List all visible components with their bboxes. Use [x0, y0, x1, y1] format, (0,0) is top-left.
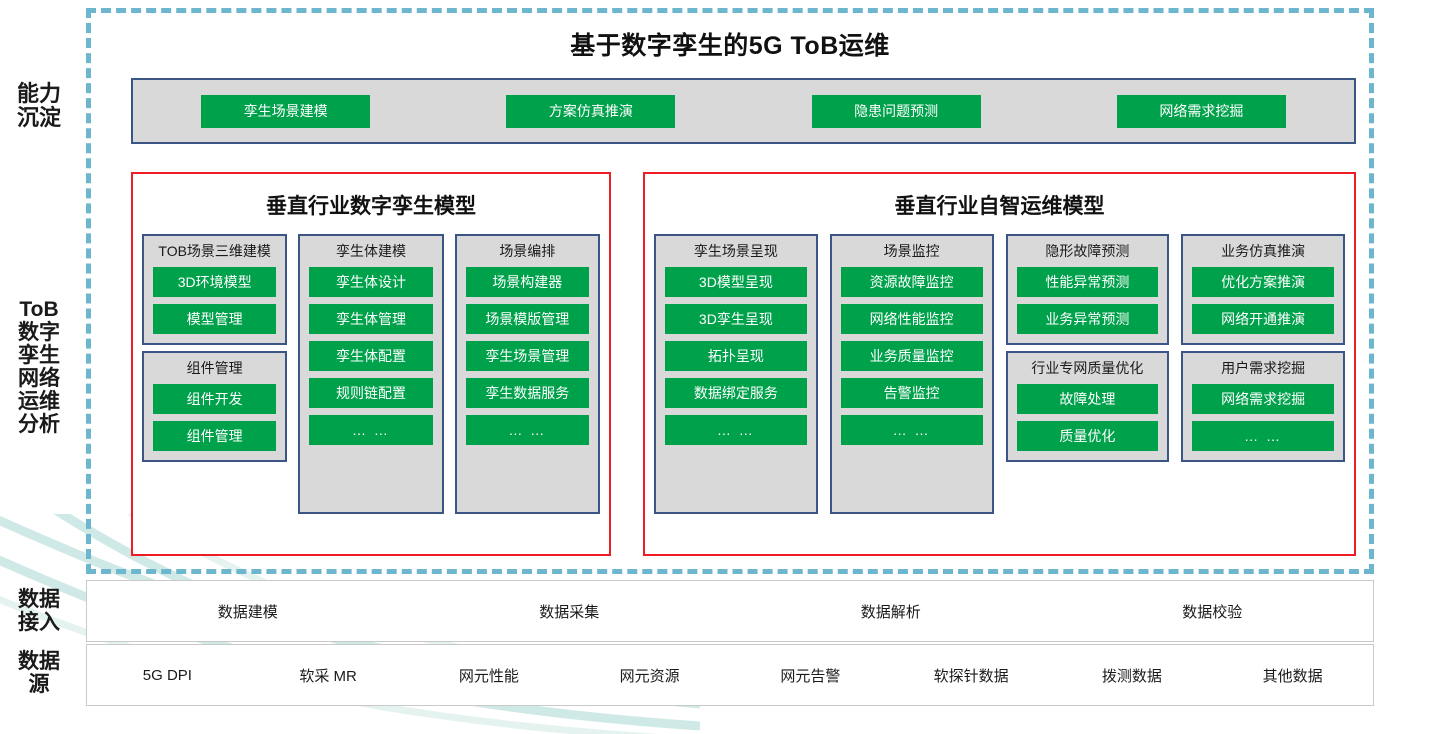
- panel-title: 隐形故障预测: [1017, 243, 1159, 259]
- capability-chip[interactable]: 隐患问题预测: [812, 95, 981, 128]
- model-column: 业务仿真推演优化方案推演网络开通推演用户需求挖掘网络需求挖掘… …: [1181, 234, 1345, 462]
- side-label-data-access-line-1: 数据: [0, 588, 78, 611]
- side-label-data-source: 数据 源: [0, 650, 78, 696]
- capability-item-chip[interactable]: 孪生体设计: [309, 267, 432, 297]
- capability-item-chip[interactable]: 规则链配置: [309, 378, 432, 408]
- data-access-item[interactable]: 数据校验: [1052, 601, 1374, 622]
- side-label-tob-line-6: 分析: [0, 413, 78, 436]
- side-label-ability: 能力 沉淀: [0, 82, 78, 130]
- capability-item-chip[interactable]: 业务质量监控: [841, 341, 983, 371]
- capability-cell: 方案仿真推演: [438, 95, 743, 128]
- capability-strip: 孪生场景建模方案仿真推演隐患问题预测网络需求挖掘: [131, 78, 1356, 144]
- side-label-data-access: 数据 接入: [0, 588, 78, 634]
- capability-item-chip[interactable]: 场景模版管理: [466, 304, 589, 334]
- capability-item-chip[interactable]: 资源故障监控: [841, 267, 983, 297]
- capability-panel: 用户需求挖掘网络需求挖掘… …: [1181, 351, 1345, 462]
- panel-title: 行业专网质量优化: [1017, 360, 1159, 376]
- side-label-data-access-line-2: 接入: [0, 611, 78, 634]
- data-access-strip: 数据建模数据采集数据解析数据校验: [86, 580, 1374, 642]
- data-source-item[interactable]: 软采 MR: [248, 665, 409, 686]
- panel-title: 场景编排: [466, 243, 589, 259]
- page-title: 基于数字孪生的5G ToB运维: [96, 26, 1364, 62]
- capability-chip[interactable]: 方案仿真推演: [506, 95, 675, 128]
- auto-ops-model-box: 垂直行业自智运维模型 孪生场景呈现3D模型呈现3D孪生呈现拓扑呈现数据绑定服务……: [643, 172, 1356, 556]
- data-source-item[interactable]: 网元性能: [409, 665, 570, 686]
- data-access-item[interactable]: 数据建模: [87, 601, 409, 622]
- model-column: 孪生体建模孪生体设计孪生体管理孪生体配置规则链配置… …: [298, 234, 443, 514]
- capability-item-chip[interactable]: 孪生数据服务: [466, 378, 589, 408]
- side-label-tob-line-4: 网络: [0, 367, 78, 390]
- capability-panel: 隐形故障预测性能异常预测业务异常预测: [1006, 234, 1170, 345]
- capability-cell: 网络需求挖掘: [1049, 95, 1354, 128]
- side-label-tob-line-3: 孪生: [0, 344, 78, 367]
- capability-item-chip[interactable]: 3D环境模型: [153, 267, 276, 297]
- capability-item-chip[interactable]: … …: [466, 415, 589, 445]
- side-label-data-source-line-2: 源: [0, 673, 78, 696]
- data-access-item[interactable]: 数据解析: [730, 601, 1052, 622]
- capability-item-chip[interactable]: 孪生体配置: [309, 341, 432, 371]
- side-label-tob: ToB 数字 孪生 网络 运维 分析: [0, 298, 78, 437]
- data-access-item[interactable]: 数据采集: [409, 601, 731, 622]
- side-label-data-source-line-1: 数据: [0, 650, 78, 673]
- capability-item-chip[interactable]: 故障处理: [1017, 384, 1159, 414]
- slide-canvas: 能力 沉淀 ToB 数字 孪生 网络 运维 分析 数据 接入 数据 源 基于数字…: [0, 0, 1438, 734]
- twin-model-columns: TOB场景三维建模3D环境模型模型管理组件管理组件开发组件管理孪生体建模孪生体设…: [133, 234, 609, 514]
- panel-title: 孪生场景呈现: [665, 243, 807, 259]
- twin-model-box: 垂直行业数字孪生模型 TOB场景三维建模3D环境模型模型管理组件管理组件开发组件…: [131, 172, 611, 556]
- capability-chip[interactable]: 孪生场景建模: [201, 95, 370, 128]
- data-source-item[interactable]: 网元告警: [730, 665, 891, 686]
- capability-item-chip[interactable]: 质量优化: [1017, 421, 1159, 451]
- capability-item-chip[interactable]: … …: [1192, 421, 1334, 451]
- panel-title: 用户需求挖掘: [1192, 360, 1334, 376]
- capability-item-chip[interactable]: 拓扑呈现: [665, 341, 807, 371]
- side-label-tob-line-5: 运维: [0, 390, 78, 413]
- capability-panel: 场景编排场景构建器场景模版管理孪生场景管理孪生数据服务… …: [455, 234, 600, 514]
- twin-model-title: 垂直行业数字孪生模型: [133, 190, 609, 220]
- model-column: 隐形故障预测性能异常预测业务异常预测行业专网质量优化故障处理质量优化: [1006, 234, 1170, 462]
- capability-cell: 孪生场景建模: [133, 95, 438, 128]
- capability-panel: 组件管理组件开发组件管理: [142, 351, 287, 462]
- capability-item-chip[interactable]: 组件管理: [153, 421, 276, 451]
- capability-item-chip[interactable]: 数据绑定服务: [665, 378, 807, 408]
- capability-item-chip[interactable]: 性能异常预测: [1017, 267, 1159, 297]
- capability-item-chip[interactable]: 告警监控: [841, 378, 983, 408]
- capability-item-chip[interactable]: 3D模型呈现: [665, 267, 807, 297]
- side-label-ability-line-2: 沉淀: [0, 106, 78, 130]
- data-source-item[interactable]: 拨测数据: [1052, 665, 1213, 686]
- capability-item-chip[interactable]: … …: [665, 415, 807, 445]
- capability-item-chip[interactable]: 孪生体管理: [309, 304, 432, 334]
- data-source-item[interactable]: 软探针数据: [891, 665, 1052, 686]
- capability-panel: 孪生场景呈现3D模型呈现3D孪生呈现拓扑呈现数据绑定服务… …: [654, 234, 818, 514]
- capability-panel: 孪生体建模孪生体设计孪生体管理孪生体配置规则链配置… …: [298, 234, 443, 514]
- panel-title: 业务仿真推演: [1192, 243, 1334, 259]
- capability-item-chip[interactable]: 网络需求挖掘: [1192, 384, 1334, 414]
- panel-title: TOB场景三维建模: [153, 243, 276, 259]
- capability-chip[interactable]: 网络需求挖掘: [1117, 95, 1286, 128]
- side-label-tob-line-1: ToB: [0, 298, 78, 321]
- model-column: 场景监控资源故障监控网络性能监控业务质量监控告警监控… …: [830, 234, 994, 514]
- capability-cell: 隐患问题预测: [744, 95, 1049, 128]
- panel-title: 组件管理: [153, 360, 276, 376]
- model-column: 场景编排场景构建器场景模版管理孪生场景管理孪生数据服务… …: [455, 234, 600, 514]
- capability-item-chip[interactable]: 业务异常预测: [1017, 304, 1159, 334]
- capability-panel: 业务仿真推演优化方案推演网络开通推演: [1181, 234, 1345, 345]
- panel-title: 场景监控: [841, 243, 983, 259]
- side-label-ability-line-1: 能力: [0, 82, 78, 106]
- data-source-item[interactable]: 网元资源: [569, 665, 730, 686]
- capability-item-chip[interactable]: 网络开通推演: [1192, 304, 1334, 334]
- model-column: TOB场景三维建模3D环境模型模型管理组件管理组件开发组件管理: [142, 234, 287, 462]
- capability-panel: 场景监控资源故障监控网络性能监控业务质量监控告警监控… …: [830, 234, 994, 514]
- side-label-tob-line-2: 数字: [0, 321, 78, 344]
- capability-item-chip[interactable]: 3D孪生呈现: [665, 304, 807, 334]
- capability-item-chip[interactable]: 场景构建器: [466, 267, 589, 297]
- capability-item-chip[interactable]: … …: [309, 415, 432, 445]
- capability-item-chip[interactable]: 孪生场景管理: [466, 341, 589, 371]
- auto-ops-model-columns: 孪生场景呈现3D模型呈现3D孪生呈现拓扑呈现数据绑定服务… …场景监控资源故障监…: [645, 234, 1354, 514]
- data-source-item[interactable]: 其他数据: [1212, 665, 1373, 686]
- capability-item-chip[interactable]: 模型管理: [153, 304, 276, 334]
- auto-ops-model-title: 垂直行业自智运维模型: [645, 190, 1354, 220]
- panel-title: 孪生体建模: [309, 243, 432, 259]
- capability-item-chip[interactable]: 组件开发: [153, 384, 276, 414]
- capability-item-chip[interactable]: 网络性能监控: [841, 304, 983, 334]
- capability-panel: 行业专网质量优化故障处理质量优化: [1006, 351, 1170, 462]
- capability-panel: TOB场景三维建模3D环境模型模型管理: [142, 234, 287, 345]
- capability-item-chip[interactable]: 优化方案推演: [1192, 267, 1334, 297]
- data-source-strip: 5G DPI软采 MR网元性能网元资源网元告警软探针数据拨测数据其他数据: [86, 644, 1374, 706]
- model-column: 孪生场景呈现3D模型呈现3D孪生呈现拓扑呈现数据绑定服务… …: [654, 234, 818, 514]
- capability-item-chip[interactable]: … …: [841, 415, 983, 445]
- data-source-item[interactable]: 5G DPI: [87, 667, 248, 684]
